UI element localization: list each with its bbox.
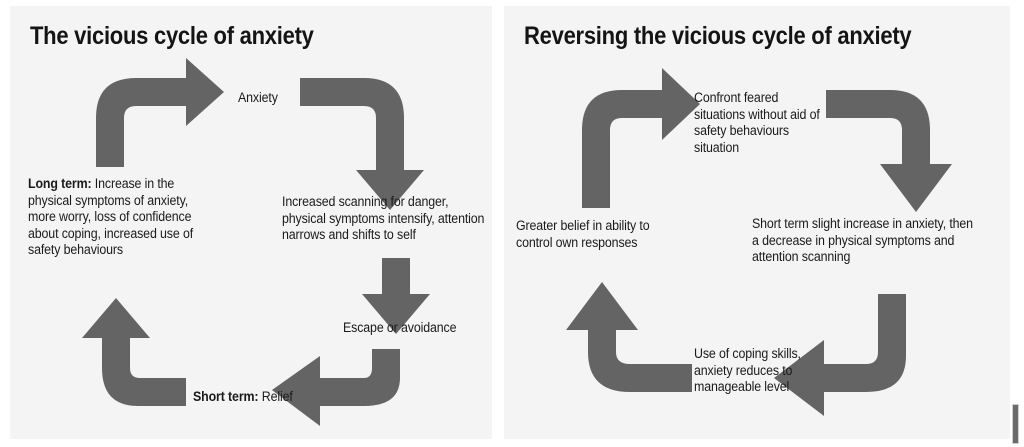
panel-title-reversing-cycle: Reversing the vicious cycle of anxiety	[524, 22, 911, 50]
node-increased-scanning-label: Increased scanning for danger, physical …	[282, 194, 484, 242]
node-greater-belief: Greater belief in ability to control own…	[516, 218, 677, 251]
right-edge-marker	[1012, 404, 1019, 444]
node-use-of-coping-skills: Use of coping skills, anxiety reduces to…	[694, 346, 832, 396]
diagram-canvas: The vicious cycle of anxiety Anxiety Inc…	[0, 0, 1024, 447]
arrow-left-to-top-icon	[582, 68, 700, 208]
arrow-bottom-to-left-icon	[82, 298, 186, 406]
node-short-term-relief-label: Relief	[258, 389, 292, 404]
node-short-term-slight-increase: Short term slight increase in anxiety, t…	[752, 216, 980, 266]
arrow-right-to-bottom-icon	[272, 349, 400, 426]
arrow-bottom-to-left-icon	[566, 282, 692, 392]
node-escape-or-avoidance: Escape or avoidance	[343, 320, 492, 337]
node-confront-feared-situations-label: Confront feared situations without aid o…	[694, 90, 820, 155]
node-short-term-relief: Short term: Relief	[193, 389, 340, 406]
arrow-left-to-top-icon	[96, 58, 224, 167]
panel-reversing-cycle: Reversing the vicious cycle of anxiety C…	[504, 6, 1010, 439]
node-increased-scanning: Increased scanning for danger, physical …	[282, 194, 492, 244]
node-anxiety-label: Anxiety	[238, 90, 278, 105]
node-greater-belief-label: Greater belief in ability to control own…	[516, 218, 650, 250]
node-long-term-increase-lead: Long term:	[28, 176, 91, 191]
arrow-top-to-right-icon	[826, 90, 952, 212]
panel-title-vicious-cycle: The vicious cycle of anxiety	[30, 22, 314, 50]
node-short-term-relief-lead: Short term:	[193, 389, 258, 404]
node-escape-or-avoidance-label: Escape or avoidance	[343, 320, 456, 335]
node-short-term-slight-increase-label: Short term slight increase in anxiety, t…	[752, 216, 973, 264]
node-confront-feared-situations: Confront feared situations without aid o…	[694, 90, 823, 156]
node-anxiety: Anxiety	[238, 90, 348, 107]
node-long-term-increase: Long term: Increase in the physical symp…	[28, 176, 194, 259]
node-use-of-coping-skills-label: Use of coping skills, anxiety reduces to…	[694, 346, 801, 394]
panel-vicious-cycle: The vicious cycle of anxiety Anxiety Inc…	[10, 6, 492, 439]
